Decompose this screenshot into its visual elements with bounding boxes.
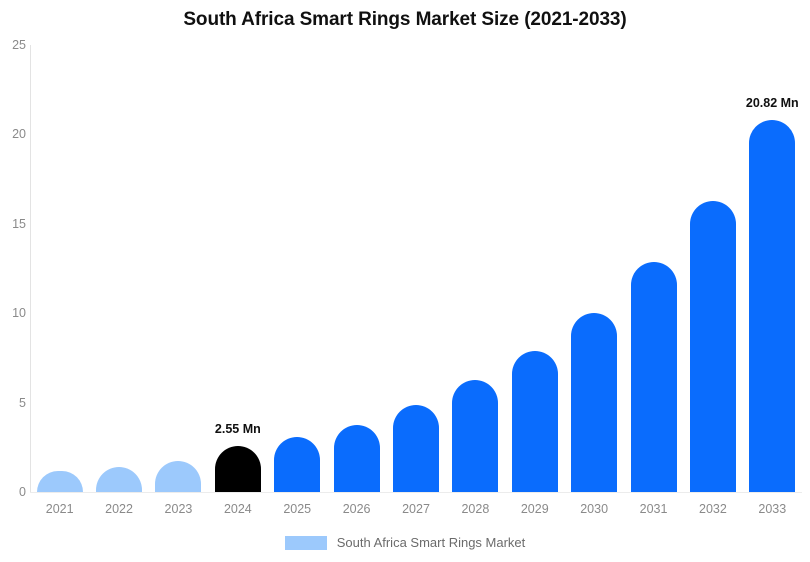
bar-slot [386, 45, 445, 492]
bar-slot [327, 45, 386, 492]
chart-container: South Africa Smart Rings Market Size (20… [0, 0, 810, 562]
bar-slot [683, 45, 742, 492]
bar-2021[interactable] [37, 471, 83, 492]
x-axis-labels: 2021202220232024202520262027202820292030… [30, 502, 802, 522]
bar-slot [624, 45, 683, 492]
y-axis-tick-label: 5 [0, 396, 26, 410]
bar-series: 2.55 Mn20.82 Mn [30, 45, 802, 492]
bar-2029[interactable] [512, 351, 558, 492]
x-axis-tick-label-2022: 2022 [105, 502, 133, 516]
bar-slot [446, 45, 505, 492]
bar-slot: 2.55 Mn [208, 45, 267, 492]
bar-slot [89, 45, 148, 492]
y-axis-ticks: 0510152025 [0, 0, 26, 562]
bar-2028[interactable] [452, 380, 498, 492]
chart-legend[interactable]: South Africa Smart Rings Market [0, 535, 810, 550]
legend-label: South Africa Smart Rings Market [337, 535, 526, 550]
x-axis-tick-label-2025: 2025 [283, 502, 311, 516]
bar-2022[interactable] [96, 467, 142, 492]
bar-2033[interactable] [749, 120, 795, 492]
y-axis-tick-label: 10 [0, 306, 26, 320]
bar-2030[interactable] [571, 313, 617, 492]
x-axis-tick-label-2033: 2033 [758, 502, 786, 516]
bar-2024[interactable] [215, 446, 261, 492]
x-axis-tick-label-2031: 2031 [640, 502, 668, 516]
x-axis-tick-label-2028: 2028 [461, 502, 489, 516]
x-axis-line [30, 492, 802, 493]
bar-value-label-2024: 2.55 Mn [215, 422, 261, 436]
bar-2031[interactable] [631, 262, 677, 492]
chart-title: South Africa Smart Rings Market Size (20… [0, 9, 810, 31]
x-axis-tick-label-2030: 2030 [580, 502, 608, 516]
x-axis-tick-label-2032: 2032 [699, 502, 727, 516]
y-axis-tick-label: 15 [0, 217, 26, 231]
bar-slot [564, 45, 623, 492]
x-axis-tick-label-2027: 2027 [402, 502, 430, 516]
bar-slot [268, 45, 327, 492]
bar-value-label-2033: 20.82 Mn [746, 96, 799, 110]
x-axis-tick-label-2029: 2029 [521, 502, 549, 516]
y-axis-tick-label: 25 [0, 38, 26, 52]
bar-slot [149, 45, 208, 492]
y-axis-tick-label: 0 [0, 485, 26, 499]
y-axis-tick-label: 20 [0, 127, 26, 141]
bar-2025[interactable] [274, 437, 320, 492]
x-axis-tick-label-2024: 2024 [224, 502, 252, 516]
bar-slot [505, 45, 564, 492]
bar-2023[interactable] [155, 461, 201, 492]
legend-swatch-icon [285, 536, 327, 550]
bar-slot: 20.82 Mn [743, 45, 802, 492]
bar-2026[interactable] [334, 425, 380, 492]
x-axis-tick-label-2021: 2021 [46, 502, 74, 516]
x-axis-tick-label-2026: 2026 [343, 502, 371, 516]
bar-2027[interactable] [393, 405, 439, 492]
bar-2032[interactable] [690, 201, 736, 492]
bar-slot [30, 45, 89, 492]
x-axis-tick-label-2023: 2023 [165, 502, 193, 516]
